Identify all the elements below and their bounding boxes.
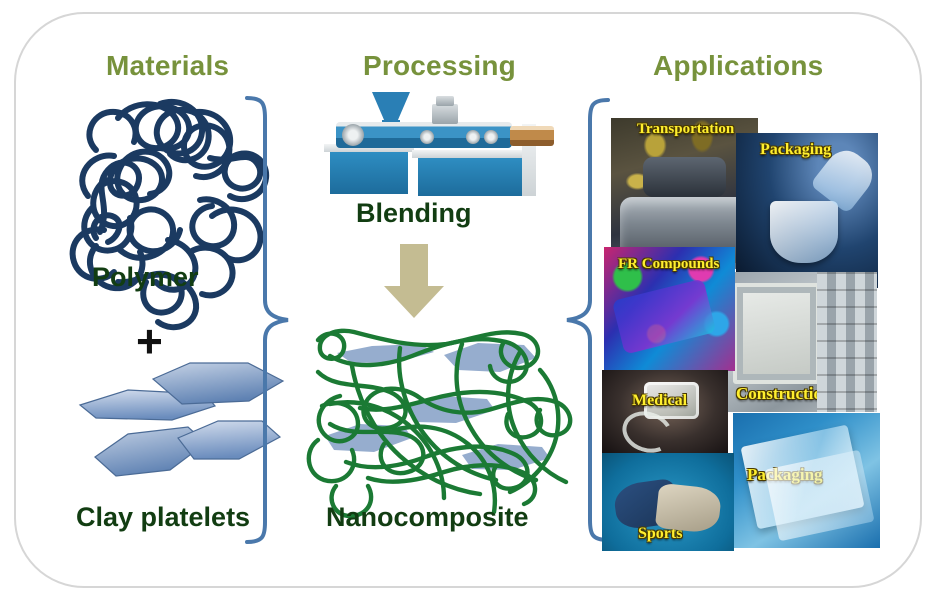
- tile-caption-packaging-film: Packaging: [747, 465, 823, 485]
- left-curly-brace-icon: [247, 98, 288, 542]
- plus-symbol: +: [136, 318, 163, 364]
- nanocomposite-label: Nanocomposite: [326, 502, 529, 533]
- clay-platelets-icon: [80, 363, 283, 476]
- application-tile-packaging-film[interactable]: Packaging: [733, 413, 880, 548]
- extruder-machine-icon: [324, 88, 556, 198]
- polymer-label: Polymer: [92, 262, 199, 293]
- tile-caption-medical: Medical: [632, 392, 687, 410]
- tile-caption-fr-compounds: FR Compounds: [618, 256, 719, 273]
- tile-caption-construction: Construction: [736, 384, 831, 404]
- polymer-chain-icon: [73, 102, 267, 327]
- application-tile-fr-compounds[interactable]: FR Compounds: [604, 247, 735, 371]
- clay-platelets-label: Clay platelets: [76, 502, 250, 533]
- tile-caption-transportation: Transportation: [637, 121, 734, 138]
- application-tile-packaging-bottle[interactable]: Packaging: [736, 133, 878, 288]
- tile-caption-packaging-bottle: Packaging: [760, 141, 831, 159]
- tile-caption-sports: Sports: [638, 525, 682, 543]
- down-arrow-icon: [384, 244, 444, 318]
- application-tile-medical[interactable]: Medical: [602, 370, 728, 454]
- application-tile-construction[interactable]: Construction: [727, 272, 877, 412]
- application-tile-sports[interactable]: Sports: [602, 453, 734, 551]
- blending-label: Blending: [356, 198, 472, 229]
- figure-canvas: Materials Processing Applications: [0, 0, 937, 600]
